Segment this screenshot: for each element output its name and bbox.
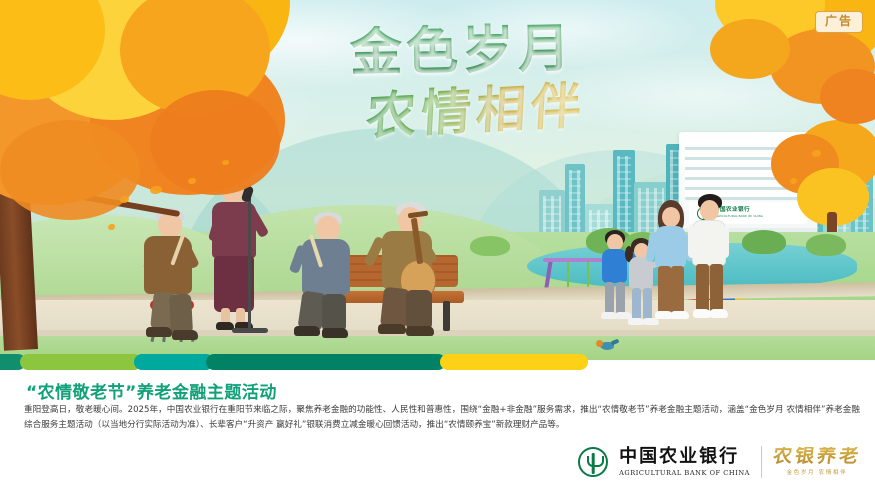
hero-title-line1: 金色岁月 [311, 21, 612, 82]
divider-segment-deep-green [206, 354, 446, 370]
body-paragraph: 重阳登高日，敬老暖心间。2025年，中国农业银行在重阳节来临之际，聚焦养老金融的… [24, 403, 860, 433]
logo-divider [761, 446, 762, 478]
subbrand-tagline: 金色岁月 农情相伴 [787, 471, 848, 476]
person-elder-flutist-bench [292, 212, 368, 344]
abc-logo-icon [578, 447, 608, 477]
subbrand-name: 农银养老 [772, 447, 862, 466]
shrub [742, 230, 786, 254]
shrub [470, 236, 510, 256]
shrub [806, 234, 846, 256]
footer-logo-group: 中国农业银行 AGRICULTURAL BANK OF CHINA 农银养老 金… [578, 440, 861, 484]
bank-name-cn: 中国农业银行 [619, 448, 750, 466]
bank-name-en: AGRICULTURAL BANK OF CHINA [619, 470, 750, 477]
content-section: “农情敬老节”养老金融主题活动 重阳登高日，敬老暖心间。2025年，中国农业银行… [0, 372, 875, 492]
person-father [688, 194, 732, 328]
divider-segment-teal [134, 354, 214, 370]
person-elder-lutist [370, 202, 456, 344]
bird [596, 338, 618, 352]
page-title: “农情敬老节”养老金融主题活动 [26, 378, 277, 403]
divider-segment-yellow [440, 354, 588, 370]
divider-segment-light-green [20, 354, 142, 370]
hero-illustration: 中国农业银行 AGRICULTURAL BANK OF CHINA [0, 0, 875, 360]
person-mother [650, 200, 692, 328]
advertisement-poster: 中国农业银行 AGRICULTURAL BANK OF CHINA [0, 0, 875, 492]
ad-badge[interactable]: 广告 [815, 11, 863, 33]
autumn-tree-left [0, 0, 300, 360]
color-divider-bar [0, 354, 875, 370]
